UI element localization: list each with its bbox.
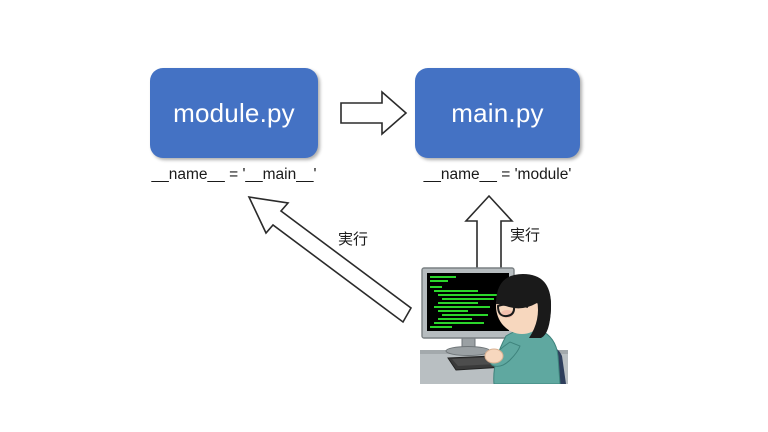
node-box-module[interactable]: module.py xyxy=(150,68,318,158)
caption-module-name-var: __name__ = '__main__' xyxy=(150,167,318,183)
person-at-computer-illustration xyxy=(418,262,568,384)
diagram-canvas: module.py main.py __name__ = '__main__' … xyxy=(0,0,768,432)
person-hand xyxy=(485,349,503,363)
execute-main-arrow xyxy=(466,196,512,272)
caption-main-name-var: __name__ = 'module' xyxy=(415,167,580,183)
arrow-layer xyxy=(0,0,768,432)
execute-label-main: 実行 xyxy=(510,228,540,243)
node-box-main[interactable]: main.py xyxy=(415,68,580,158)
node-label-main: main.py xyxy=(451,100,543,126)
import-arrow xyxy=(341,92,406,134)
execute-label-module: 実行 xyxy=(338,232,368,247)
node-label-module: module.py xyxy=(173,100,295,126)
execute-module-arrow xyxy=(249,197,411,322)
monitor-stand xyxy=(446,336,490,356)
